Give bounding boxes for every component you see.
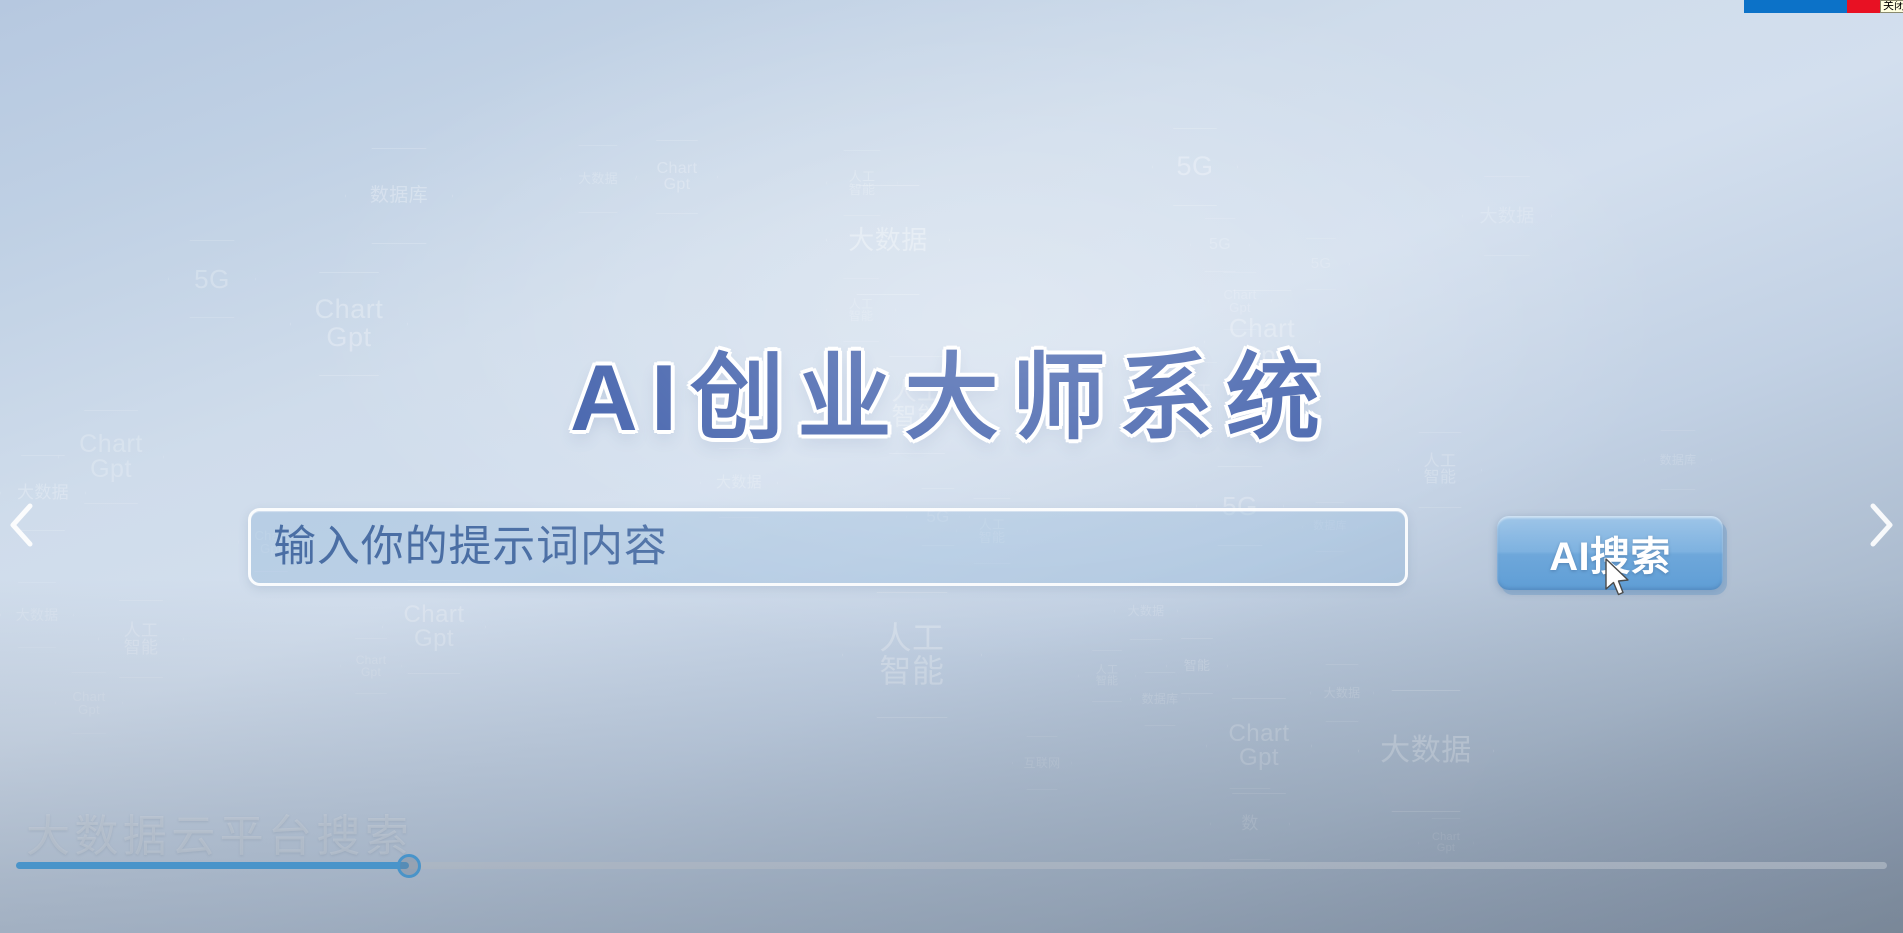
background-hex-tag: Chart Gpt (382, 580, 486, 674)
background-hexagon-field: 数据库5G大数据Chart GptChart Gpt大数据Chart Gpt人工… (0, 0, 1903, 933)
background-hex-tag: 智能 (1166, 638, 1228, 694)
background-hex-tag: 5G (1292, 238, 1350, 290)
background-hex-tag: 大数据 (1310, 664, 1374, 722)
window-titlebar-strip (1744, 0, 1880, 13)
progress-slider-track[interactable] (16, 862, 1887, 869)
chevron-left-icon (7, 501, 37, 549)
background-hex-tag: Chart Gpt (636, 140, 718, 214)
background-hex-tag: 人工 智能 (98, 600, 184, 678)
carousel-prev-button[interactable] (0, 495, 44, 555)
window-close-button[interactable] (1847, 0, 1880, 13)
prompt-search-input[interactable] (248, 508, 1408, 586)
background-hex-tag: 5G (1152, 128, 1238, 206)
background-hex-tag: 人工 智能 (1078, 650, 1136, 702)
background-hex-tag: Chart Gpt (55, 672, 123, 734)
progress-slider-handle[interactable] (397, 854, 421, 878)
background-hex-tag: 大数据 (1358, 690, 1494, 812)
background-hex-tag: 大数据 (1462, 176, 1552, 256)
background-hex-tag: 人工 智能 (842, 592, 982, 718)
bottom-player-bar (0, 837, 1903, 933)
carousel-next-button[interactable] (1859, 495, 1903, 555)
background-hex-tag: Chart Gpt (340, 638, 402, 694)
background-hex-tag: 数据库 (1130, 672, 1190, 726)
search-row: AI搜索 (0, 508, 1903, 594)
background-hex-tag: Chart Gpt (1206, 698, 1312, 794)
progress-slider-fill (16, 862, 409, 869)
page-title: AI创业大师系统 (0, 322, 1903, 458)
background-hex-tag: 5G (168, 240, 256, 318)
background-hex-tag: 5G (1190, 218, 1250, 272)
background-hex-tag: 数据库 (345, 148, 453, 244)
background-hex-tag: 人工 智能 (826, 150, 898, 216)
titlebar-blue-segment (1744, 0, 1847, 13)
app-stage: 数据库5G大数据Chart GptChart Gpt大数据Chart Gpt人工… (0, 0, 1903, 933)
ai-search-button[interactable]: AI搜索 (1497, 516, 1723, 590)
background-hex-tag: 大数据 (560, 145, 636, 213)
close-button-tooltip: 关闭 (1880, 0, 1903, 13)
background-hex-tag: 互联网 (1012, 736, 1072, 790)
chevron-right-icon (1866, 501, 1896, 549)
background-hex-tag: 大数据 (826, 185, 950, 295)
